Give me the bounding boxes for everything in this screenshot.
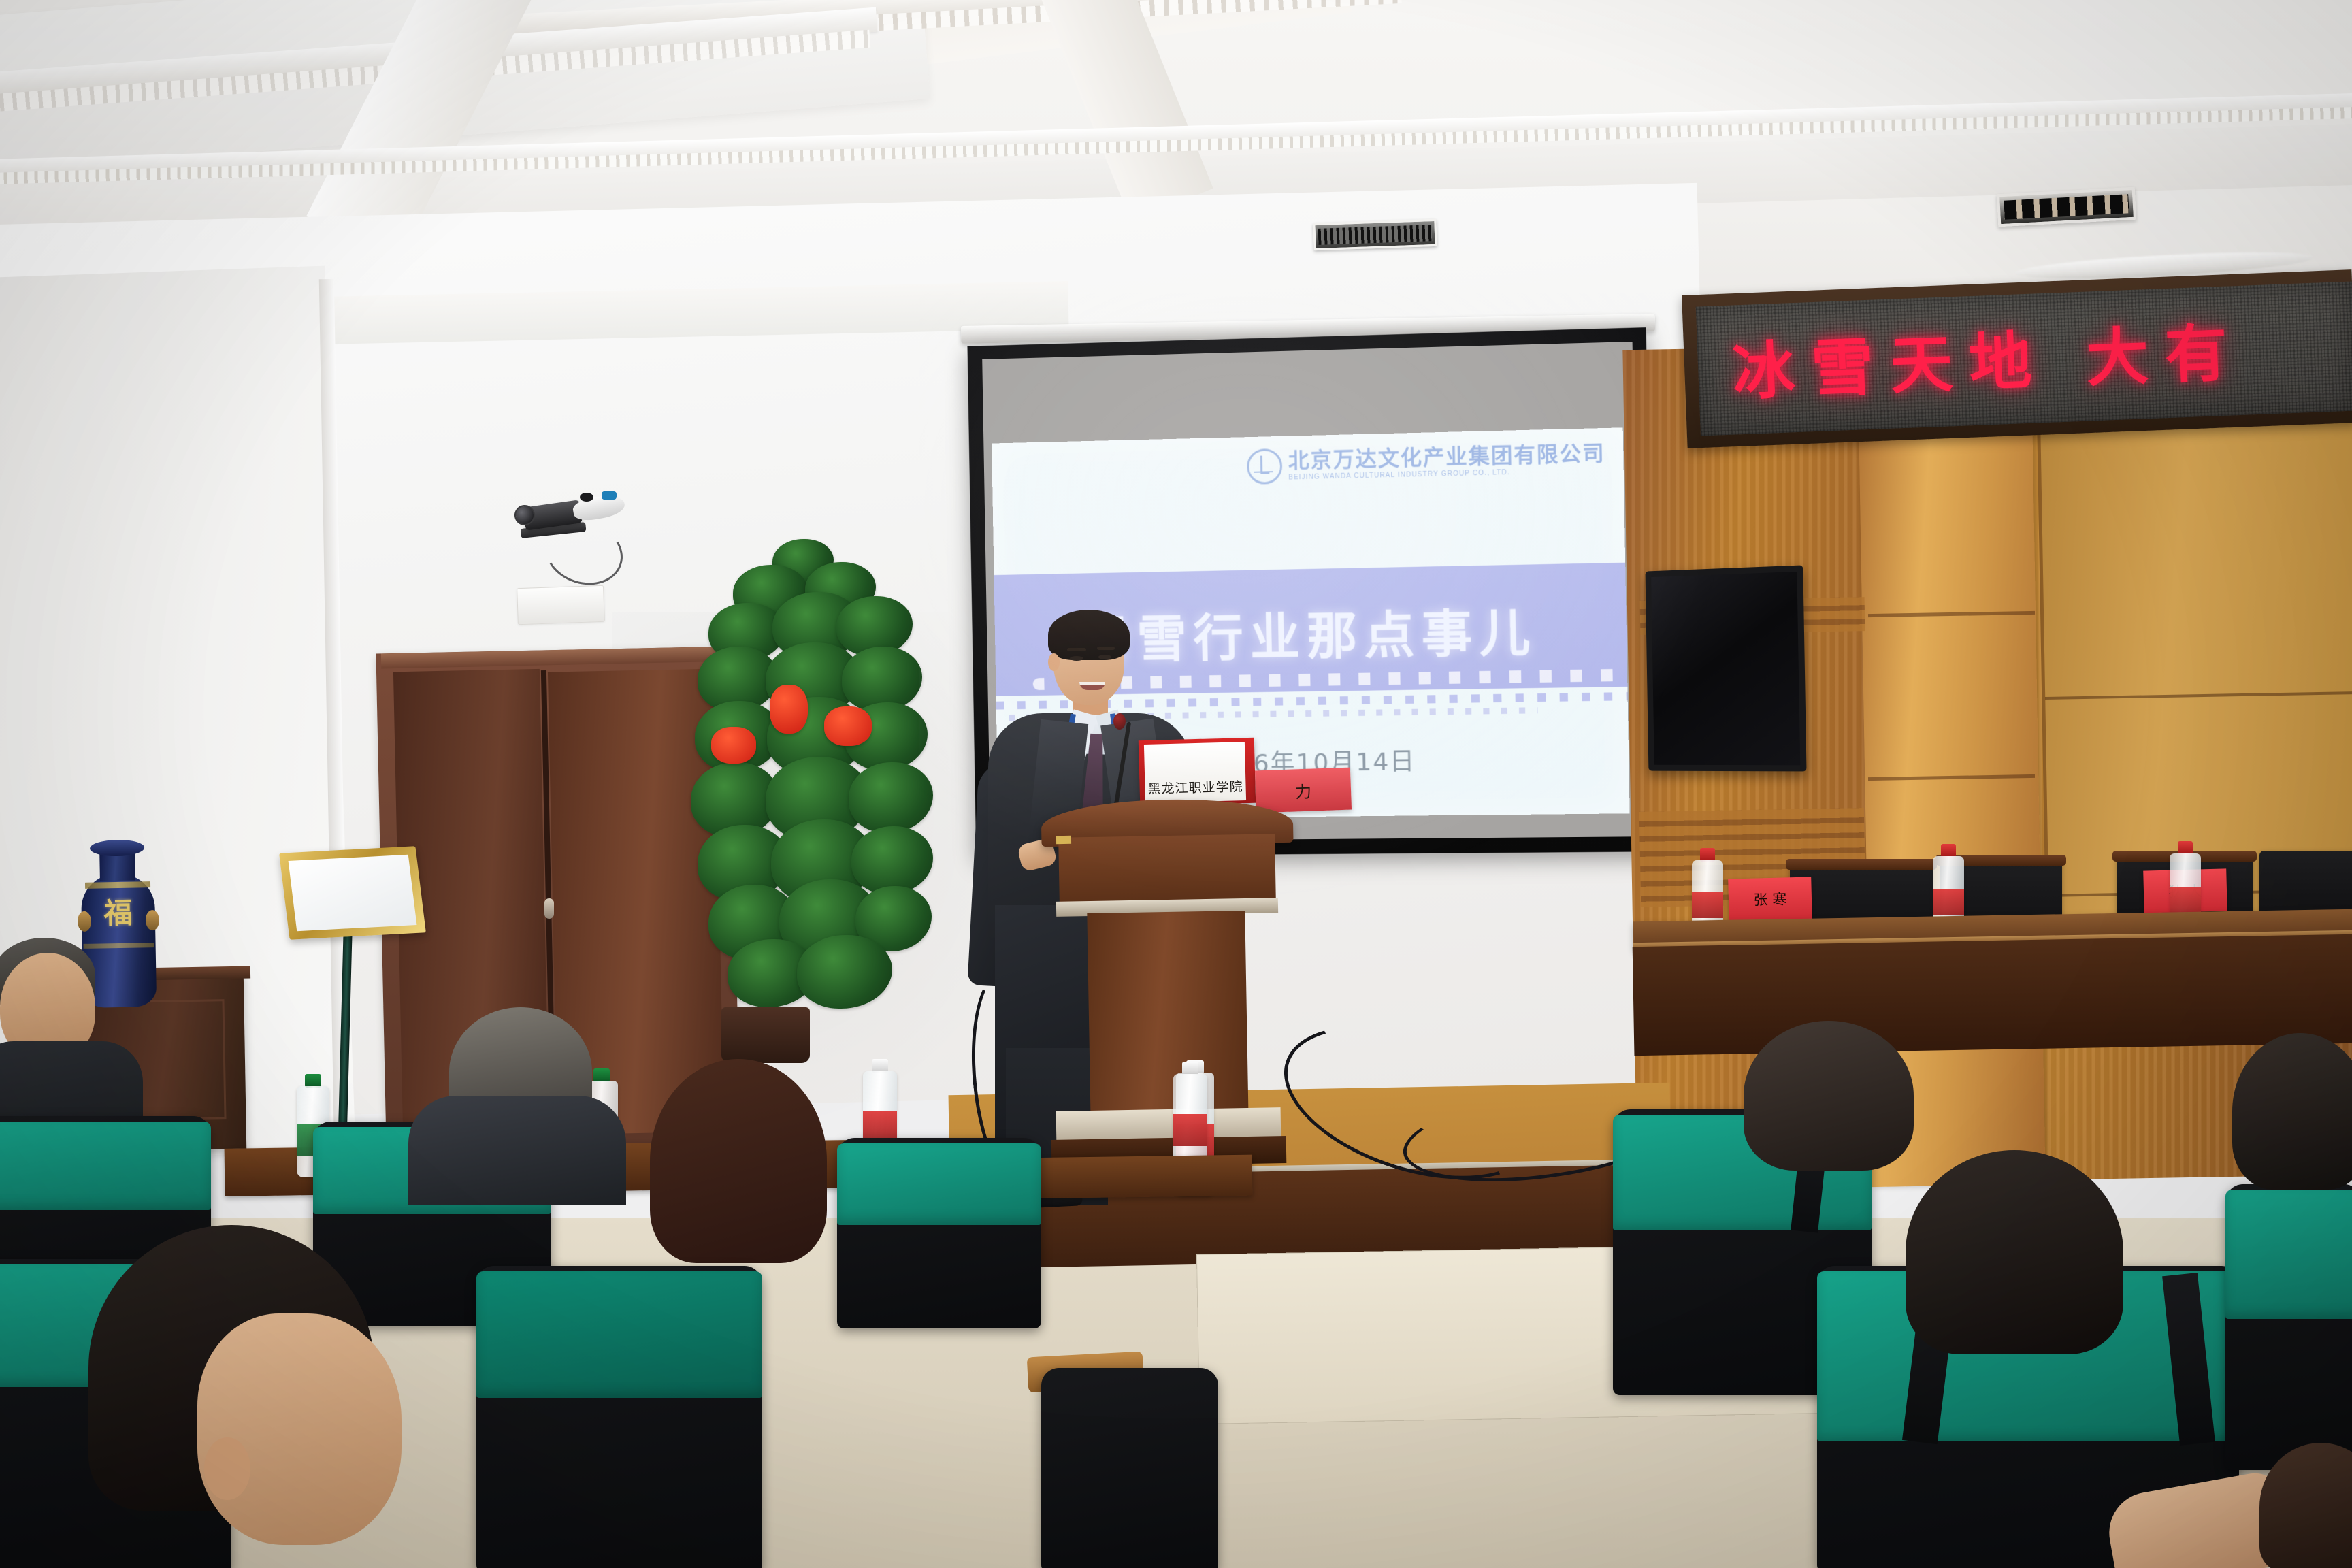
speaker-mouth [1079,682,1105,690]
vase-handle-right [146,910,160,930]
bottle-label [2170,887,2201,913]
speaker-eye-left [1070,656,1083,661]
wall-mounted-tv[interactable] [1646,565,1807,771]
conference-chair-1-top [1786,859,1937,870]
chair-cover [837,1143,1041,1225]
bottle-cap [305,1074,321,1088]
podium-front-face [1058,834,1276,906]
wanda-circle-logo-icon [1247,448,1283,485]
podium-red-card: 力 [1255,768,1352,813]
speaker-ear [1048,653,1060,671]
bottle-cap [1182,1062,1198,1075]
speaker-eyebrow-left [1067,648,1086,651]
speaker-hair [1048,610,1130,660]
bottle-cap [1700,848,1715,862]
speaker-eye-right [1098,655,1111,659]
chair-cover [2225,1190,2352,1319]
table-name-card-1: 张 寒 [1728,877,1812,921]
tv-screen [1651,572,1800,765]
water-bottle [1173,1062,1207,1169]
easel-sign-paper[interactable] [289,855,417,931]
chair-cover [476,1271,762,1398]
conference-room-photo: 福 [0,0,2352,1568]
wall-plate [517,585,605,625]
plant-pot [721,1007,810,1063]
podium-emblem-icon [1056,836,1071,844]
podium-nameplate: 黑龙江职业学院 [1144,742,1246,803]
audience-head [197,1313,402,1545]
red-ribbon-2 [770,685,808,734]
bottle-cap [593,1068,609,1082]
bottle-label [1692,892,1723,918]
red-ribbon-1 [711,727,756,764]
bottle-cap [1941,844,1956,857]
camera-indicator-icon [602,491,617,500]
vase-handle-left [78,911,92,932]
chair-cover [0,1122,211,1210]
potted-plant [670,544,943,1034]
podium-column [1087,911,1248,1124]
camera-connector [580,493,593,502]
door-handle-icon[interactable] [544,898,554,919]
microphone-icon [1113,713,1126,730]
podium-nameplate-text: 黑龙江职业学院 [1147,777,1243,798]
speaker-eyebrow-right [1097,647,1115,650]
audience-ear [204,1437,250,1500]
red-ribbon-3 [824,706,872,746]
audience-shoulders [408,1096,626,1205]
bottle-cap [2178,841,2193,855]
audience-hair [1744,1021,1914,1171]
bottle-label [1933,889,1964,915]
audience-hair [1906,1150,2123,1354]
podium-red-card-text: 力 [1294,778,1311,802]
vase-fu-character: 福 [101,897,135,930]
air-vent-icon [1313,219,1437,250]
vase-gold-band [85,881,150,889]
slide-logo: 北京万达文化产业集团有限公司 BEIJING WANDA CULTURAL IN… [1247,440,1605,485]
bottle-label [1173,1114,1207,1147]
audience-chair [1041,1368,1218,1568]
audience-hair [650,1059,827,1263]
bottle-cap [872,1059,888,1073]
vase-lip [90,839,144,856]
conference-table-body [1633,934,2352,1056]
table-name-card-1-text: 张 寒 [1753,888,1786,909]
